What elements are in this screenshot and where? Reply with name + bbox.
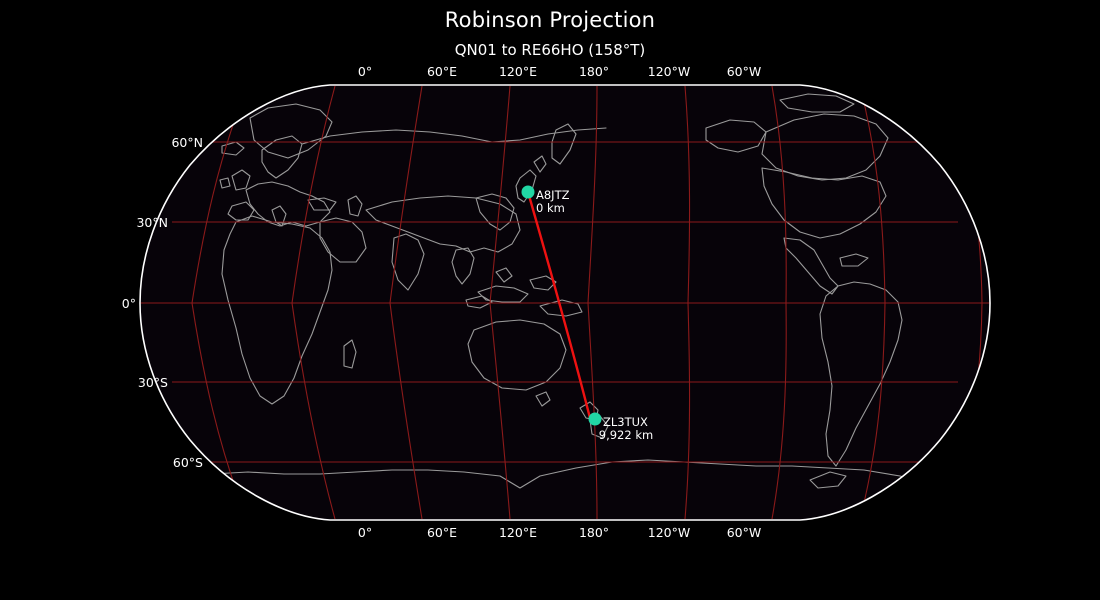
lon-label-bottom-4: 120°W <box>648 525 690 540</box>
longitude-labels-bottom: 0° 60°E 120°E 180° 120°W 60°W <box>358 525 761 540</box>
lat-label-60n: 60°N <box>171 135 203 150</box>
lat-label-0: 0° <box>122 296 136 311</box>
marker-label-origin-callsign: A8JTZ <box>536 188 570 202</box>
longitude-labels-top: 0° 60°E 120°E 180° 120°W 60°W <box>358 64 761 79</box>
lat-label-30n: 30°N <box>136 215 168 230</box>
map-canvas[interactable]: A8JTZ 0 km ZL3TUX 9,922 km 0° 60°E 120°E… <box>0 0 1100 600</box>
lat-label-60s: 60°S <box>173 455 203 470</box>
lon-label-top-0: 0° <box>358 64 372 79</box>
marker-label-destination-callsign: ZL3TUX <box>603 415 648 429</box>
marker-label-origin-distance: 0 km <box>536 201 565 215</box>
lon-label-bottom-2: 120°E <box>499 525 537 540</box>
lon-label-top-3: 180° <box>579 64 609 79</box>
lon-label-top-1: 60°E <box>427 64 457 79</box>
lon-label-bottom-5: 60°W <box>727 525 762 540</box>
lon-label-top-5: 60°W <box>727 64 762 79</box>
marker-dot-destination[interactable] <box>589 413 602 426</box>
marker-destination[interactable]: ZL3TUX 9,922 km <box>589 413 654 443</box>
lon-label-bottom-0: 0° <box>358 525 372 540</box>
map-figure: Robinson Projection QN01 to RE66HO (158°… <box>0 0 1100 600</box>
marker-dot-origin[interactable] <box>522 186 535 199</box>
lon-label-bottom-3: 180° <box>579 525 609 540</box>
lon-label-top-2: 120°E <box>499 64 537 79</box>
lat-label-30s: 30°S <box>138 375 168 390</box>
marker-label-destination-distance: 9,922 km <box>599 428 653 442</box>
lon-label-bottom-1: 60°E <box>427 525 457 540</box>
lon-label-top-4: 120°W <box>648 64 690 79</box>
